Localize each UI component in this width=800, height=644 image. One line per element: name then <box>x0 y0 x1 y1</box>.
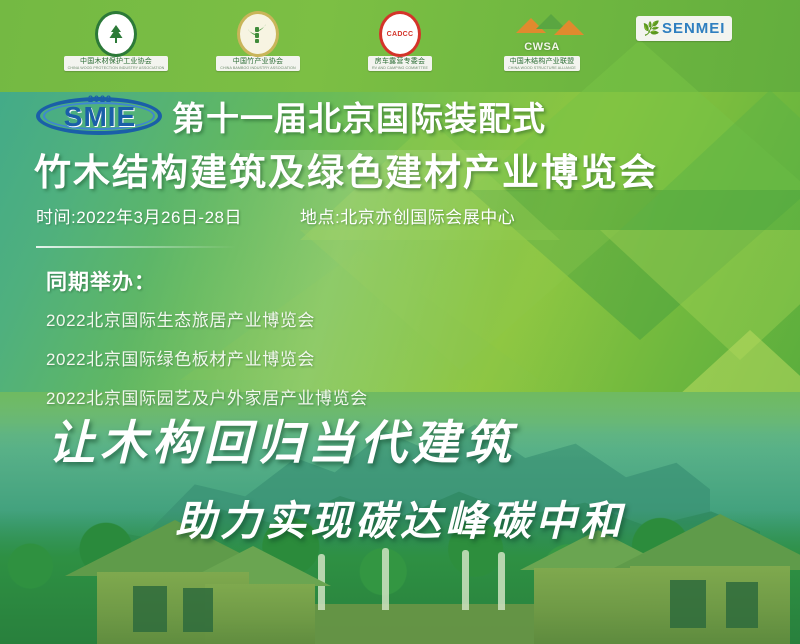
page-title-line-1: 第十一届北京国际装配式 <box>172 92 546 140</box>
cwsa-acronym: CWSA <box>512 41 572 53</box>
event-venue: 地点:北京亦创国际会展中心 <box>300 203 515 228</box>
event-date: 时间:2022年3月26日-28日 <box>36 203 242 228</box>
event-meta: 时间:2022年3月26日-28日 地点:北京亦创国际会展中心 <box>36 203 515 228</box>
sponsor-logo-0[interactable]: 中国木材保护工业协会 CHINA WOOD PROTECTION INDUSTR… <box>60 13 172 75</box>
concurrent-item: 2022北京国际生态旅居产业博览会 <box>46 306 368 331</box>
tree-in-circle-icon <box>95 13 137 55</box>
sponsor-logo-caption-en: CHINA WOOD PROTECTION INDUSTRY ASSOCIATI… <box>68 66 165 70</box>
meta-divider <box>36 246 236 248</box>
sponsor-logo-2[interactable]: CADCC 房车露营专委会 RV AND CAMPING COMMITTEE <box>344 13 456 75</box>
slogan-line-2: 助力实现碳达峰碳中和 <box>175 487 800 547</box>
smie-logo[interactable]: 2022 SMIE <box>34 93 166 139</box>
sponsor-logo-4[interactable]: 🌿 SENMEI <box>628 13 740 75</box>
sponsor-logo-caption: 中国木结构产业联盟 CHINA WOOD STRUCTURE ALLIANCE <box>504 56 580 71</box>
slogan-line-1: 让木构回归当代建筑 <box>48 404 800 473</box>
sponsor-logo-caption-en: CHINA BAMBOO INDUSTRY ASSOCIATION <box>220 66 295 70</box>
page-title-line-2: 竹木结构建筑及绿色建材产业博览会 <box>34 152 658 193</box>
concurrent-item: 2022北京国际绿色板材产业博览会 <box>46 345 368 370</box>
sponsor-logo-3[interactable]: CWSA 中国木结构产业联盟 CHINA WOOD STRUCTURE ALLI… <box>486 13 598 75</box>
forest-canopy-front <box>0 542 800 644</box>
slogan-block: 让木构回归当代建筑 助力实现碳达峰碳中和 <box>0 404 800 547</box>
sponsor-logo-caption: 中国木材保护工业协会 CHINA WOOD PROTECTION INDUSTR… <box>64 56 169 71</box>
concurrent-events: 同期举办： 2022北京国际生态旅居产业博览会 2022北京国际绿色板材产业博览… <box>46 266 368 423</box>
cwsa-house-icon: CWSA <box>512 13 572 55</box>
sponsor-logo-caption-en: RV AND CAMPING COMMITTEE <box>372 66 428 70</box>
sponsor-logo-caption: 中国竹产业协会 CHINA BAMBOO INDUSTRY ASSOCIATIO… <box>216 56 299 71</box>
sponsor-logo-caption-en: CHINA WOOD STRUCTURE ALLIANCE <box>508 66 576 70</box>
exhibition-poster: 中国木材保护工业协会 CHINA WOOD PROTECTION INDUSTR… <box>0 0 800 644</box>
cadcc-seal-icon: CADCC <box>379 13 421 55</box>
senmei-wordmark: SENMEI <box>662 20 726 37</box>
sponsor-logo-1[interactable]: 中国竹产业协会 CHINA BAMBOO INDUSTRY ASSOCIATIO… <box>202 13 314 75</box>
concurrent-heading: 同期举办： <box>46 266 368 296</box>
smie-acronym: SMIE <box>34 101 166 133</box>
title-row-primary: 2022 SMIE 第十一届北京国际装配式 <box>0 92 800 140</box>
sponsor-logo-strip: 中国木材保护工业协会 CHINA WOOD PROTECTION INDUSTR… <box>0 0 800 88</box>
sponsor-logo-caption: 房车露营专委会 RV AND CAMPING COMMITTEE <box>368 56 432 71</box>
title-block: 2022 SMIE 第十一届北京国际装配式 竹木结构建筑及绿色建材产业博览会 <box>0 92 800 196</box>
leaf-icon: 🌿 <box>643 21 660 35</box>
bamboo-seal-icon <box>237 13 279 55</box>
title-row-secondary: 竹木结构建筑及绿色建材产业博览会 <box>0 142 800 196</box>
senmei-leaf-icon: 🌿 SENMEI <box>634 13 734 43</box>
house-roof-icon <box>554 20 584 35</box>
cadcc-acronym: CADCC <box>387 31 414 38</box>
